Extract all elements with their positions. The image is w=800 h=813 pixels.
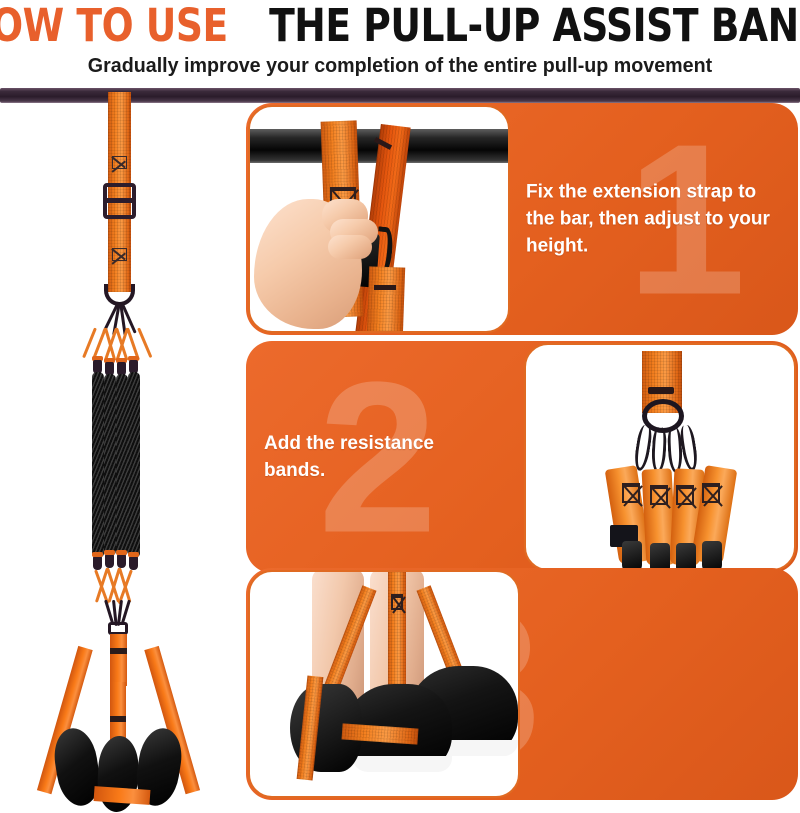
band-end bbox=[622, 541, 642, 571]
strap-stitch-icon bbox=[112, 248, 127, 261]
strap-stitch-icon bbox=[702, 483, 720, 503]
resistance-band bbox=[104, 374, 116, 556]
clip-cap bbox=[104, 550, 115, 555]
strap-stitch-icon bbox=[676, 485, 694, 505]
page-title: HOW TO USE THE PULL-UP ASSIST BAND bbox=[0, 2, 800, 50]
step-photo-3 bbox=[248, 570, 520, 798]
band-end bbox=[702, 541, 722, 571]
buckle-bar bbox=[104, 198, 135, 203]
carabiner bbox=[632, 424, 653, 472]
title-main-text: THE PULL-UP ASSIST BAND bbox=[269, 3, 800, 49]
resistance-band bbox=[92, 372, 104, 558]
step-photo-2 bbox=[524, 343, 796, 571]
strap-stitch-icon bbox=[374, 285, 396, 290]
strap-stitch-icon bbox=[112, 156, 127, 169]
header: HOW TO USE THE PULL-UP ASSIST BAND Gradu… bbox=[0, 0, 800, 88]
strap-stitch-icon bbox=[622, 483, 640, 503]
band-end bbox=[650, 543, 670, 571]
band-clip bbox=[129, 556, 138, 570]
title-accent-text: HOW TO USE bbox=[0, 3, 228, 49]
product-figure bbox=[0, 88, 242, 800]
strap-stitch-icon bbox=[110, 716, 126, 722]
band-clip bbox=[105, 554, 114, 568]
carabiner bbox=[651, 427, 667, 474]
shoe-sole bbox=[352, 756, 452, 772]
band-end bbox=[676, 543, 696, 571]
clip-cap bbox=[128, 552, 139, 557]
strap-stitch-icon bbox=[650, 485, 668, 505]
foot-rest-strap-photo bbox=[388, 570, 406, 690]
step-text-2: Add the resistance bands. bbox=[264, 430, 484, 484]
resistance-band bbox=[116, 374, 128, 556]
orange-cord bbox=[137, 327, 152, 358]
strap-stitch-icon bbox=[648, 387, 674, 394]
foot-rest-strap bbox=[110, 634, 127, 686]
thumb bbox=[328, 235, 372, 259]
clip-cap bbox=[116, 550, 127, 555]
carabiner bbox=[678, 424, 699, 472]
strap-tail bbox=[367, 266, 405, 333]
resistance-band bbox=[128, 372, 140, 558]
strap-stitch-icon bbox=[391, 594, 403, 610]
step-photo-1 bbox=[248, 105, 510, 333]
band-clip bbox=[117, 554, 126, 568]
band-clip bbox=[93, 556, 102, 570]
strap-stitch-icon bbox=[110, 648, 127, 654]
page-subtitle: Gradually improve your completion of the… bbox=[16, 54, 784, 78]
step-text-1: Fix the extension strap to the bar, then… bbox=[526, 179, 784, 260]
clip-cap bbox=[92, 552, 103, 557]
